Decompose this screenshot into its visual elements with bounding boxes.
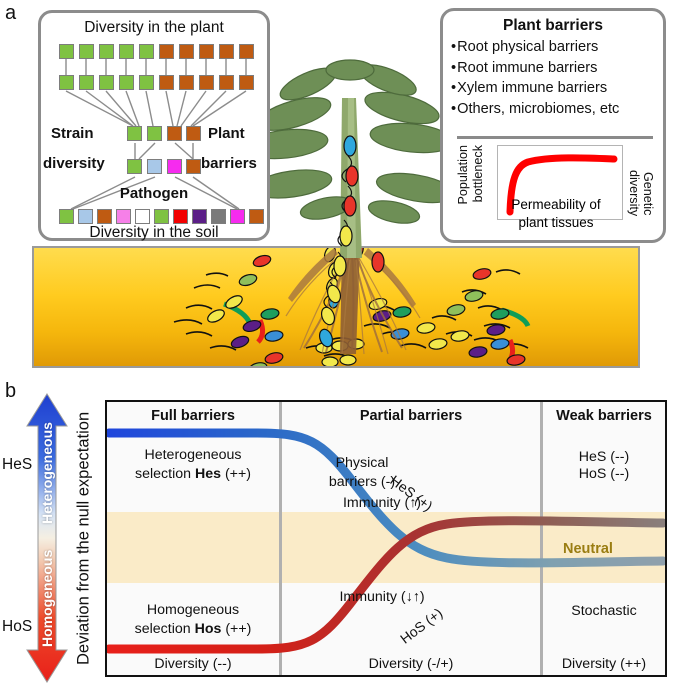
plant-square [99,75,114,90]
plant-square [159,44,174,59]
panel-b-letter: b [5,380,16,403]
soil-square [230,209,245,224]
plant-barriers-bullets: Root physical barriers Root immune barri… [451,37,663,119]
barriers-label: barriers [201,155,257,172]
cell-physical-barriers: Physical barriers (-) [282,454,442,492]
cell-bold: Hes [195,466,221,482]
cell-line: barriers (-) [329,474,395,490]
permeability-xlabel-line1: Permeability of [443,197,669,212]
plant-square [199,75,214,90]
plant-square [239,44,254,59]
cell-diversity-weak: Diversity (++) [543,655,665,674]
arrow-label-heterogeneous: Heterogeneous [36,418,58,528]
soil-square [135,209,150,224]
panel-b: b Heterogeneous Homogeneous HeS HoS Devi… [0,378,673,685]
cell-line: Homogeneous [147,602,239,618]
plant-square [219,44,234,59]
cell-stochastic: Stochastic [543,602,665,621]
cell-line: (++) [221,621,251,637]
panel-a: a [0,0,673,375]
plant-square [59,75,74,90]
soil-square [154,209,169,224]
plant-square [159,75,174,90]
cell-hes-full: Heterogeneous selection Hes (++) [107,446,279,484]
cell-immunity-up: Immunity (↑) [282,494,482,513]
pathogen-label: Pathogen [41,185,267,202]
hes-side-label: HeS [2,456,32,474]
plant-square [119,44,134,59]
arrow-label-homogeneous: Homogeneous [36,543,58,653]
soil-square [59,209,74,224]
strain-square [147,126,162,141]
soil-square [249,209,264,224]
neutral-label: Neutral [563,541,613,557]
bullet-xylem-immune: Xylem immune barriers [451,78,663,99]
plant-square [179,75,194,90]
plant-square [139,44,154,59]
strain-square [186,126,201,141]
panel-a-letter: a [5,2,16,25]
strain-label: Strain [51,125,94,142]
cell-hos-weak: HoS (--) [543,465,665,484]
cell-diversity-full: Diversity (--) [107,655,279,674]
cell-immunity-downup: Immunity (↓↑) [282,588,482,607]
soil-square [97,209,112,224]
bottleneck-axis-label-line2: bottleneck [471,145,485,202]
plant-label: Plant [208,125,245,142]
figure-root: a [0,0,673,685]
bullet-root-physical: Root physical barriers [451,37,663,58]
soil-diversity-title: Diversity in the soil [41,224,267,242]
plant-square [199,44,214,59]
plant-square [179,44,194,59]
diversity-label: diversity [43,155,105,172]
cell-line: (++) [221,466,251,482]
cell-bold: Hos [195,621,222,637]
strain-square [127,126,142,141]
soil-square [211,209,226,224]
soil-square [192,209,207,224]
strain-square [167,126,182,141]
barrier-gradient-chart: Full barriers Partial barriers Weak barr… [105,400,667,677]
cell-line: selection [135,466,195,482]
plant-square [79,44,94,59]
plant-square [59,44,74,59]
plant-barriers-title: Plant barriers [443,17,663,35]
hos-side-label: HoS [2,618,32,636]
permeability-xlabel-line2: plant tissues [443,215,669,230]
plant-square [99,44,114,59]
y-axis-label: Deviation from the null expectation [72,400,96,677]
population-axis-label-line1: Population [456,145,470,205]
column-title-full: Full barriers [107,408,279,424]
pathogen-square [186,159,201,174]
cell-diversity-partial: Diversity (-/+) [282,655,540,674]
cell-line: selection [135,621,195,637]
plant-barriers-box: Plant barriers Root physical barriers Ro… [440,8,666,243]
plant-square [79,75,94,90]
cell-hos-full: Homogeneous selection Hos (++) [107,601,279,639]
soil-square [173,209,188,224]
column-title-partial: Partial barriers [282,408,540,424]
pathogen-square [147,159,162,174]
soil-square [116,209,131,224]
column-title-weak: Weak barriers [543,408,665,424]
bullet-others: Others, microbiomes, etc [451,99,663,120]
root-system [286,246,420,354]
pathogen-square [167,159,182,174]
pathogen-square [127,159,142,174]
divider-line [457,136,653,139]
cell-line: Physical [336,455,389,471]
bullet-root-immune: Root immune barriers [451,58,663,79]
diversity-box: Diversity in the plant [38,10,270,241]
plant-square [119,75,134,90]
plant-square [239,75,254,90]
plant-square [219,75,234,90]
soil-square [78,209,93,224]
plant-square [139,75,154,90]
cell-line: Heterogeneous [144,447,241,463]
